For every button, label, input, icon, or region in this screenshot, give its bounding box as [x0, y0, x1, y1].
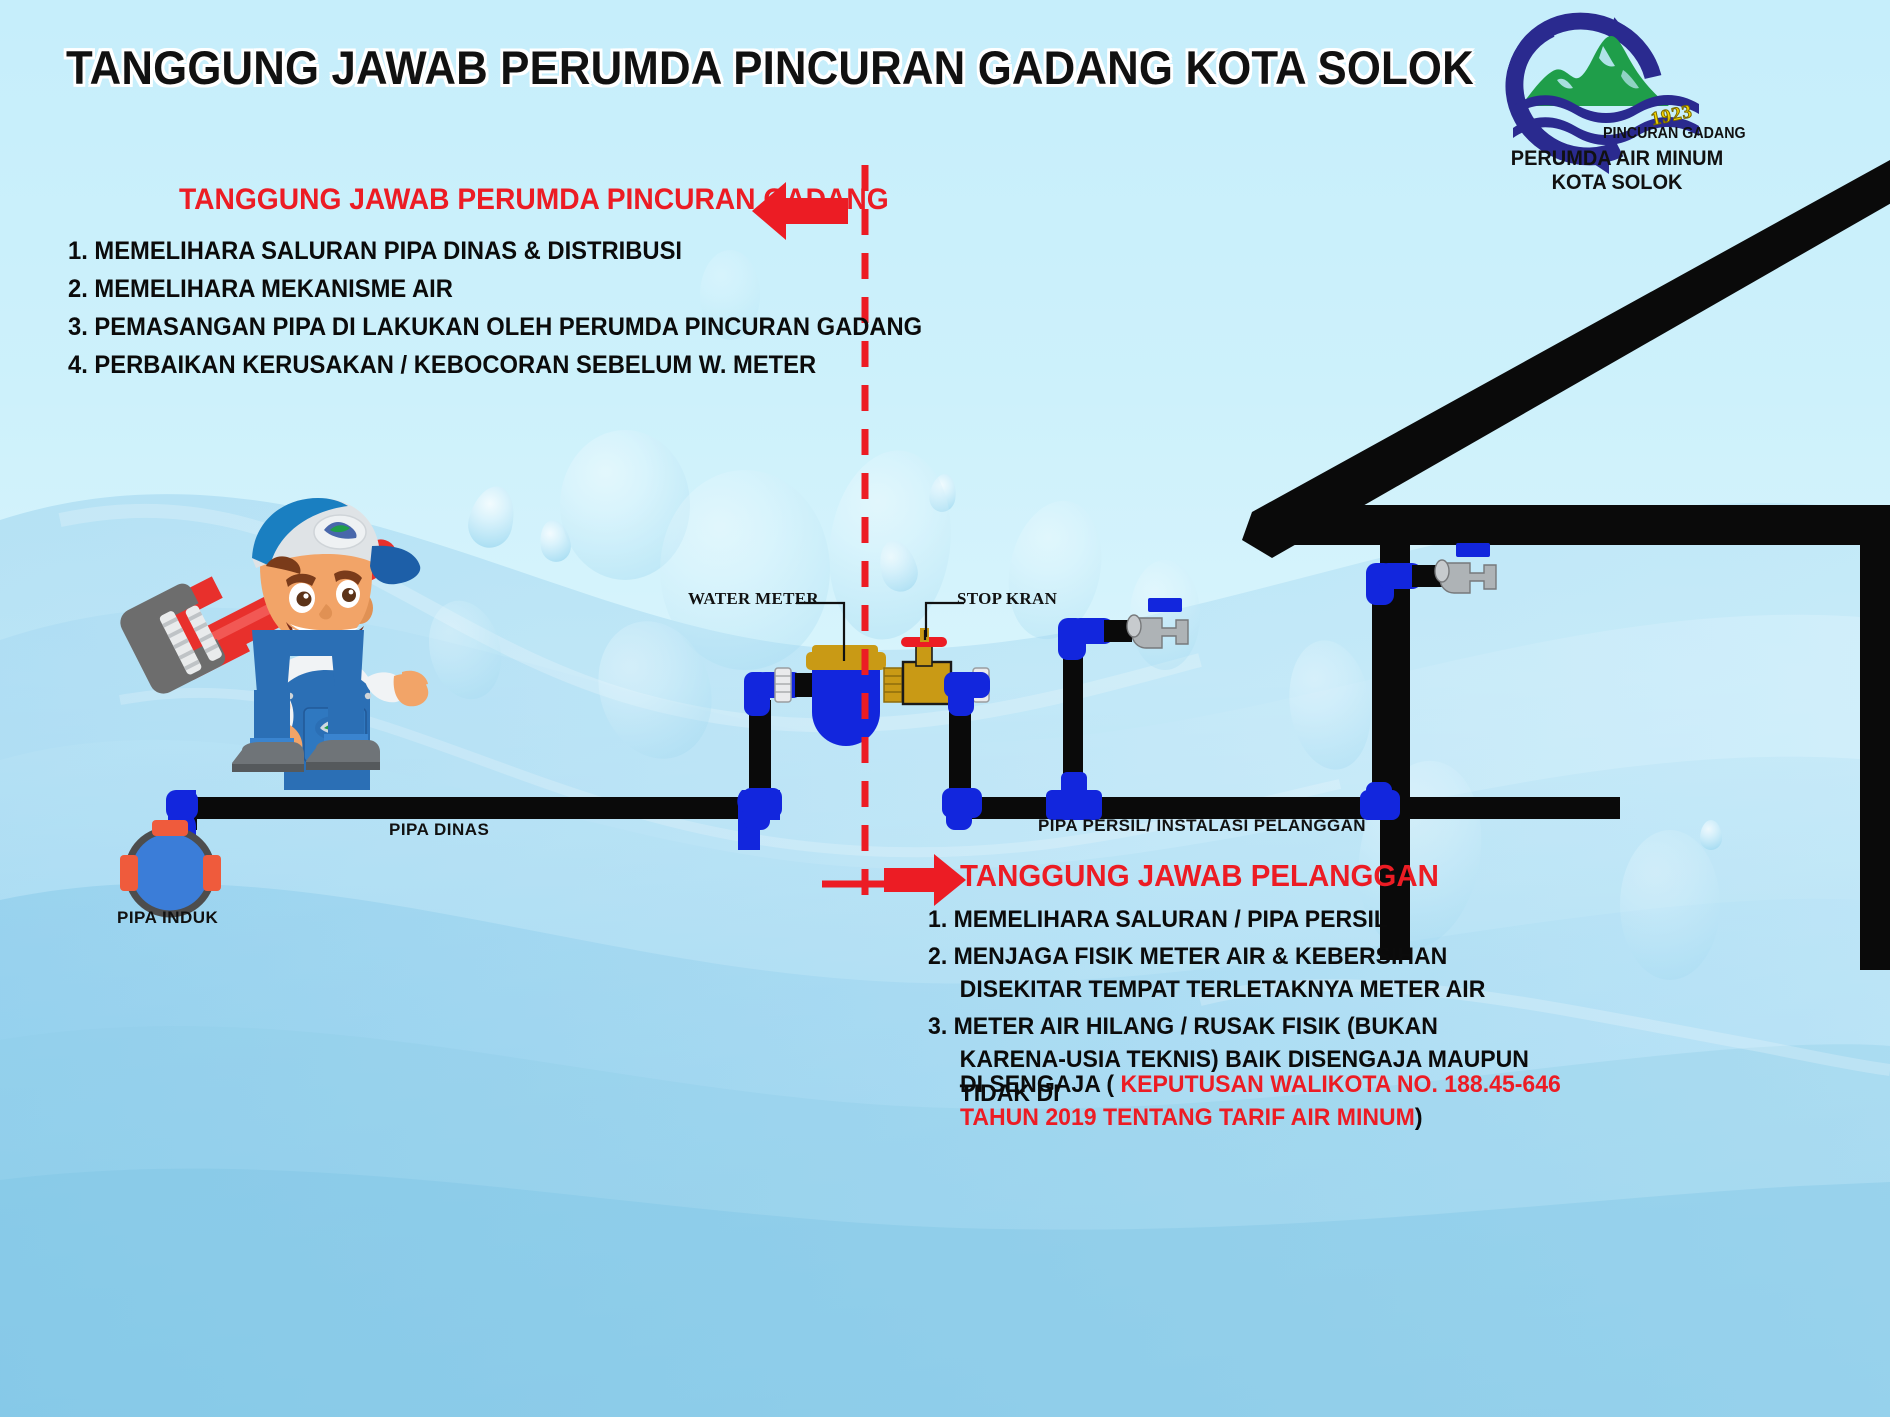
label-pipa-induk: PIPA INDUK: [117, 908, 218, 928]
arrow-left-icon: [752, 180, 848, 242]
list-item: 2. MENJAGA FISIK METER AIR & KEBERSIHAN …: [928, 940, 1542, 1006]
regulation-prefix: DI SENGAJA (: [960, 1071, 1114, 1098]
list-item: 3. PEMASANGAN PIPA DI LAKUKAN OLEH PERUM…: [68, 313, 922, 342]
plumber-legs: [232, 630, 392, 790]
label-pipa-persil: PIPA PERSIL/ INSTALASI PELANGGAN: [1038, 816, 1366, 836]
regulation-number: KEPUTUSAN WALIKOTA NO. 188.45-646: [1114, 1071, 1561, 1098]
arrow-right-icon: [884, 852, 966, 908]
pelanggan-regulation-note: DI SENGAJA ( KEPUTUSAN WALIKOTA NO. 188.…: [960, 1068, 1613, 1134]
regulation-title: TAHUN 2019 TENTANG TARIF AIR MINUM: [960, 1104, 1415, 1131]
list-item: 1. MEMELIHARA SALURAN / PIPA PERSIL: [928, 903, 1542, 936]
pelanggan-section-heading: TANGGUNG JAWAB PELANGGAN: [960, 858, 1439, 894]
faucet-icon: [1124, 598, 1198, 658]
list-item: 4. PERBAIKAN KERUSAKAN / KEBOCORAN SEBEL…: [68, 351, 922, 380]
stop-kran-stem-line: [920, 630, 930, 640]
faucet-icon: [1432, 543, 1506, 603]
list-item: 1. MEMELIHARA SALURAN PIPA DINAS & DISTR…: [68, 237, 922, 266]
label-water-meter: WATER METER: [688, 589, 819, 609]
infographic-canvas: TANGGUNG JAWAB PERUMDA PINCURAN GADANG K…: [0, 0, 1890, 1417]
regulation-suffix: ): [1415, 1104, 1423, 1131]
list-item: 2. MEMELIHARA MEKANISME AIR: [68, 275, 922, 304]
perumda-responsibility-list: 1. MEMELIHARA SALURAN PIPA DINAS & DISTR…: [68, 237, 967, 389]
label-stop-kran: STOP KRAN: [957, 589, 1057, 609]
label-pipa-dinas: PIPA DINAS: [389, 820, 489, 840]
